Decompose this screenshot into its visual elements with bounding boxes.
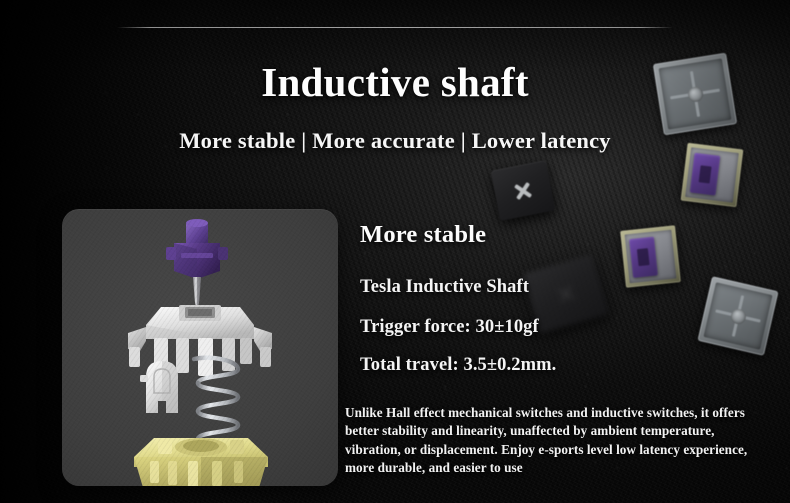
page-subtitle: More stable | More accurate | Lower late… bbox=[0, 128, 790, 154]
spec-line-product: Tesla Inductive Shaft bbox=[360, 277, 529, 298]
spec-line-total-travel: Total travel: 3.5±0.2mm. bbox=[360, 355, 556, 376]
component-slider bbox=[140, 361, 178, 413]
exploded-switch-diagram bbox=[62, 209, 338, 486]
component-upper-housing bbox=[128, 305, 272, 376]
description-paragraph: Unlike Hall effect mechanical switches a… bbox=[345, 404, 773, 478]
spec-line-trigger-force: Trigger force: 30±10gf bbox=[360, 317, 539, 338]
component-stem bbox=[166, 219, 228, 313]
banner-root: Inductive shaft More stable | More accur… bbox=[0, 0, 790, 503]
header-divider bbox=[117, 27, 673, 28]
component-base-housing bbox=[134, 438, 268, 486]
page-title: Inductive shaft bbox=[0, 60, 790, 104]
section-heading: More stable bbox=[360, 221, 486, 249]
product-image-panel bbox=[62, 209, 338, 486]
